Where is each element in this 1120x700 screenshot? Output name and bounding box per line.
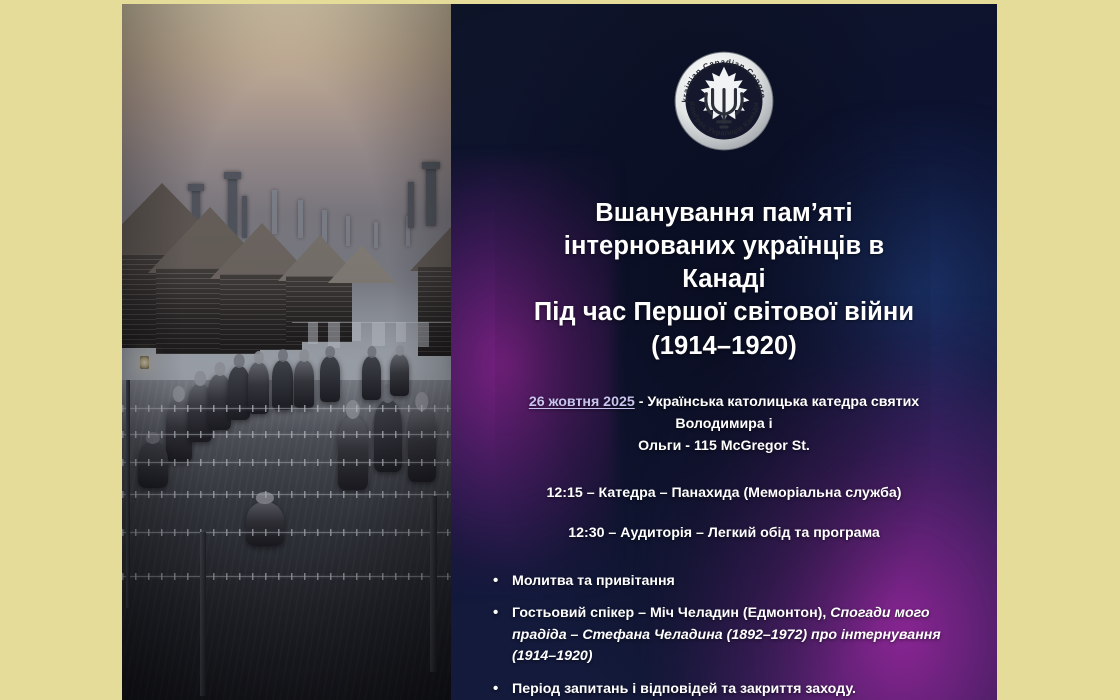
fence-post — [126, 380, 130, 608]
lantern-icon — [140, 356, 149, 369]
laundry-item — [396, 322, 406, 342]
laundry-item — [328, 322, 340, 348]
barbed-wire — [122, 408, 451, 409]
chimney — [422, 162, 440, 169]
chimney — [224, 172, 241, 179]
top-letterbox-strip — [122, 0, 997, 4]
camp-figure — [294, 360, 314, 408]
barbed-wire — [122, 532, 451, 533]
internment-camp-illustration — [122, 4, 451, 700]
speaker-title-italic-2: – Стефана Челадина (1892–1972) про інтер… — [512, 627, 941, 665]
event-date-link[interactable]: 26 жовтня 2025 — [529, 394, 635, 410]
headline-line-5: (1914–1920) — [487, 330, 961, 363]
camp-figure — [272, 360, 293, 410]
slide: Ukrainian Canadian Congress Конґрес Укра… — [122, 4, 997, 700]
barbed-wire — [122, 462, 451, 463]
camp-figure — [408, 408, 436, 482]
barbed-wire — [122, 494, 451, 495]
barrack-roof — [410, 210, 451, 271]
headline-line-3: Канаді — [487, 263, 961, 296]
fence-post — [430, 496, 437, 672]
page-title: Вшанування пам’яті інтернованих українці… — [487, 197, 961, 363]
camp-figure — [362, 356, 381, 400]
ukrainian-canadian-congress-logo: Ukrainian Canadian Congress Конґрес Укра… — [672, 49, 776, 153]
speaker-prefix: Гостьовий спікер – Міч Челадин (Едмонтон… — [512, 605, 830, 621]
content-panel: Ukrainian Canadian Congress Конґрес Укра… — [451, 4, 997, 700]
barbed-wire — [122, 576, 451, 577]
schedule-item-1: 12:15 – Катедра – Панахида (Меморіальна … — [487, 485, 961, 501]
poster-root: Ukrainian Canadian Congress Конґрес Укра… — [0, 0, 1120, 700]
venue-line-2: Ольги - 115 McGregor St. — [487, 435, 961, 457]
laundry-item — [418, 322, 429, 347]
barrack-wall — [286, 276, 352, 342]
camp-figure — [320, 356, 340, 402]
fence-post — [200, 532, 206, 696]
laundry-item — [308, 322, 318, 344]
venue-separator: - — [635, 394, 648, 410]
logo-wrap: Ukrainian Canadian Congress Конґрес Укра… — [487, 4, 961, 153]
camp-figure-crouching — [246, 502, 284, 546]
barbed-wire — [122, 434, 451, 435]
venue-line-1: Українська католицька катедра святих Вол… — [647, 394, 919, 432]
headline-line-4: Під час Першої світової війни — [487, 296, 961, 329]
headline-line-2: інтернованих українців в — [487, 230, 961, 263]
camp-figure — [390, 354, 409, 396]
list-item: Гостьовий спікер – Міч Челадин (Едмонтон… — [489, 603, 959, 668]
headline-line-1: Вшанування пам’яті — [487, 197, 961, 230]
list-item: Період запитань і відповідей та закриття… — [489, 679, 959, 700]
list-item: Молитва та привітання — [489, 571, 959, 593]
barrack-roof — [328, 242, 396, 283]
schedule-item-2: 12:30 – Аудиторія – Легкий обід та прогр… — [487, 525, 961, 541]
venue-block: 26 жовтня 2025 - Українська католицька к… — [487, 391, 961, 457]
agenda-list: Молитва та привітання Гостьовий спікер –… — [489, 571, 959, 700]
laundry-item — [372, 322, 385, 346]
camp-figure — [338, 416, 368, 490]
laundry-item — [352, 322, 361, 341]
